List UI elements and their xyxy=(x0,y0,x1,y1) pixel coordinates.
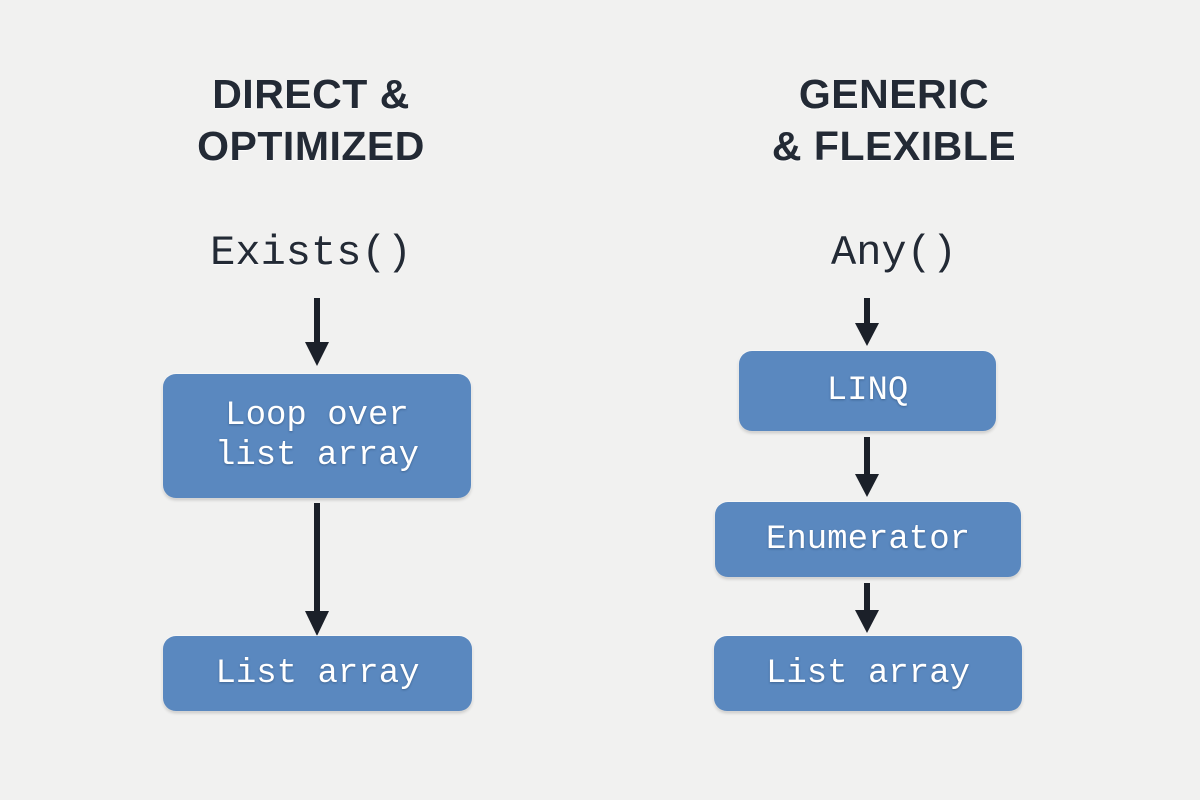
arrow-loop-over-to-list-array xyxy=(303,503,331,638)
entry-method-exists: Exists() xyxy=(6,230,616,276)
node-label-enumerator: Enumerator xyxy=(766,520,970,560)
arrow-any-to-linq xyxy=(853,298,881,348)
node-linq[interactable]: LINQ xyxy=(739,351,996,431)
node-list-array-right[interactable]: List array xyxy=(714,636,1022,711)
diagram-canvas: DIRECT & OPTIMIZED Exists() Loop over li… xyxy=(0,0,1200,800)
node-enumerator[interactable]: Enumerator xyxy=(715,502,1021,577)
node-label-linq: LINQ xyxy=(827,371,909,411)
arrow-linq-to-enumerator xyxy=(853,437,881,499)
entry-method-any: Any() xyxy=(599,230,1189,276)
arrow-enumerator-to-list-array xyxy=(853,583,881,635)
column-heading-generic-flexible: GENERIC & FLEXIBLE xyxy=(599,68,1189,172)
node-loop-over-list-array[interactable]: Loop over list array xyxy=(163,374,471,498)
node-label-loop-over-list-array: Loop over list array xyxy=(215,396,419,476)
node-list-array-left[interactable]: List array xyxy=(163,636,472,711)
column-heading-direct-optimized: DIRECT & OPTIMIZED xyxy=(6,68,616,172)
arrow-exists-to-loop-over xyxy=(303,298,331,368)
node-label-list-array-right: List array xyxy=(766,654,970,694)
flow-column-direct-optimized: DIRECT & OPTIMIZED Exists() Loop over li… xyxy=(0,0,610,800)
node-label-list-array-left: List array xyxy=(215,654,419,694)
